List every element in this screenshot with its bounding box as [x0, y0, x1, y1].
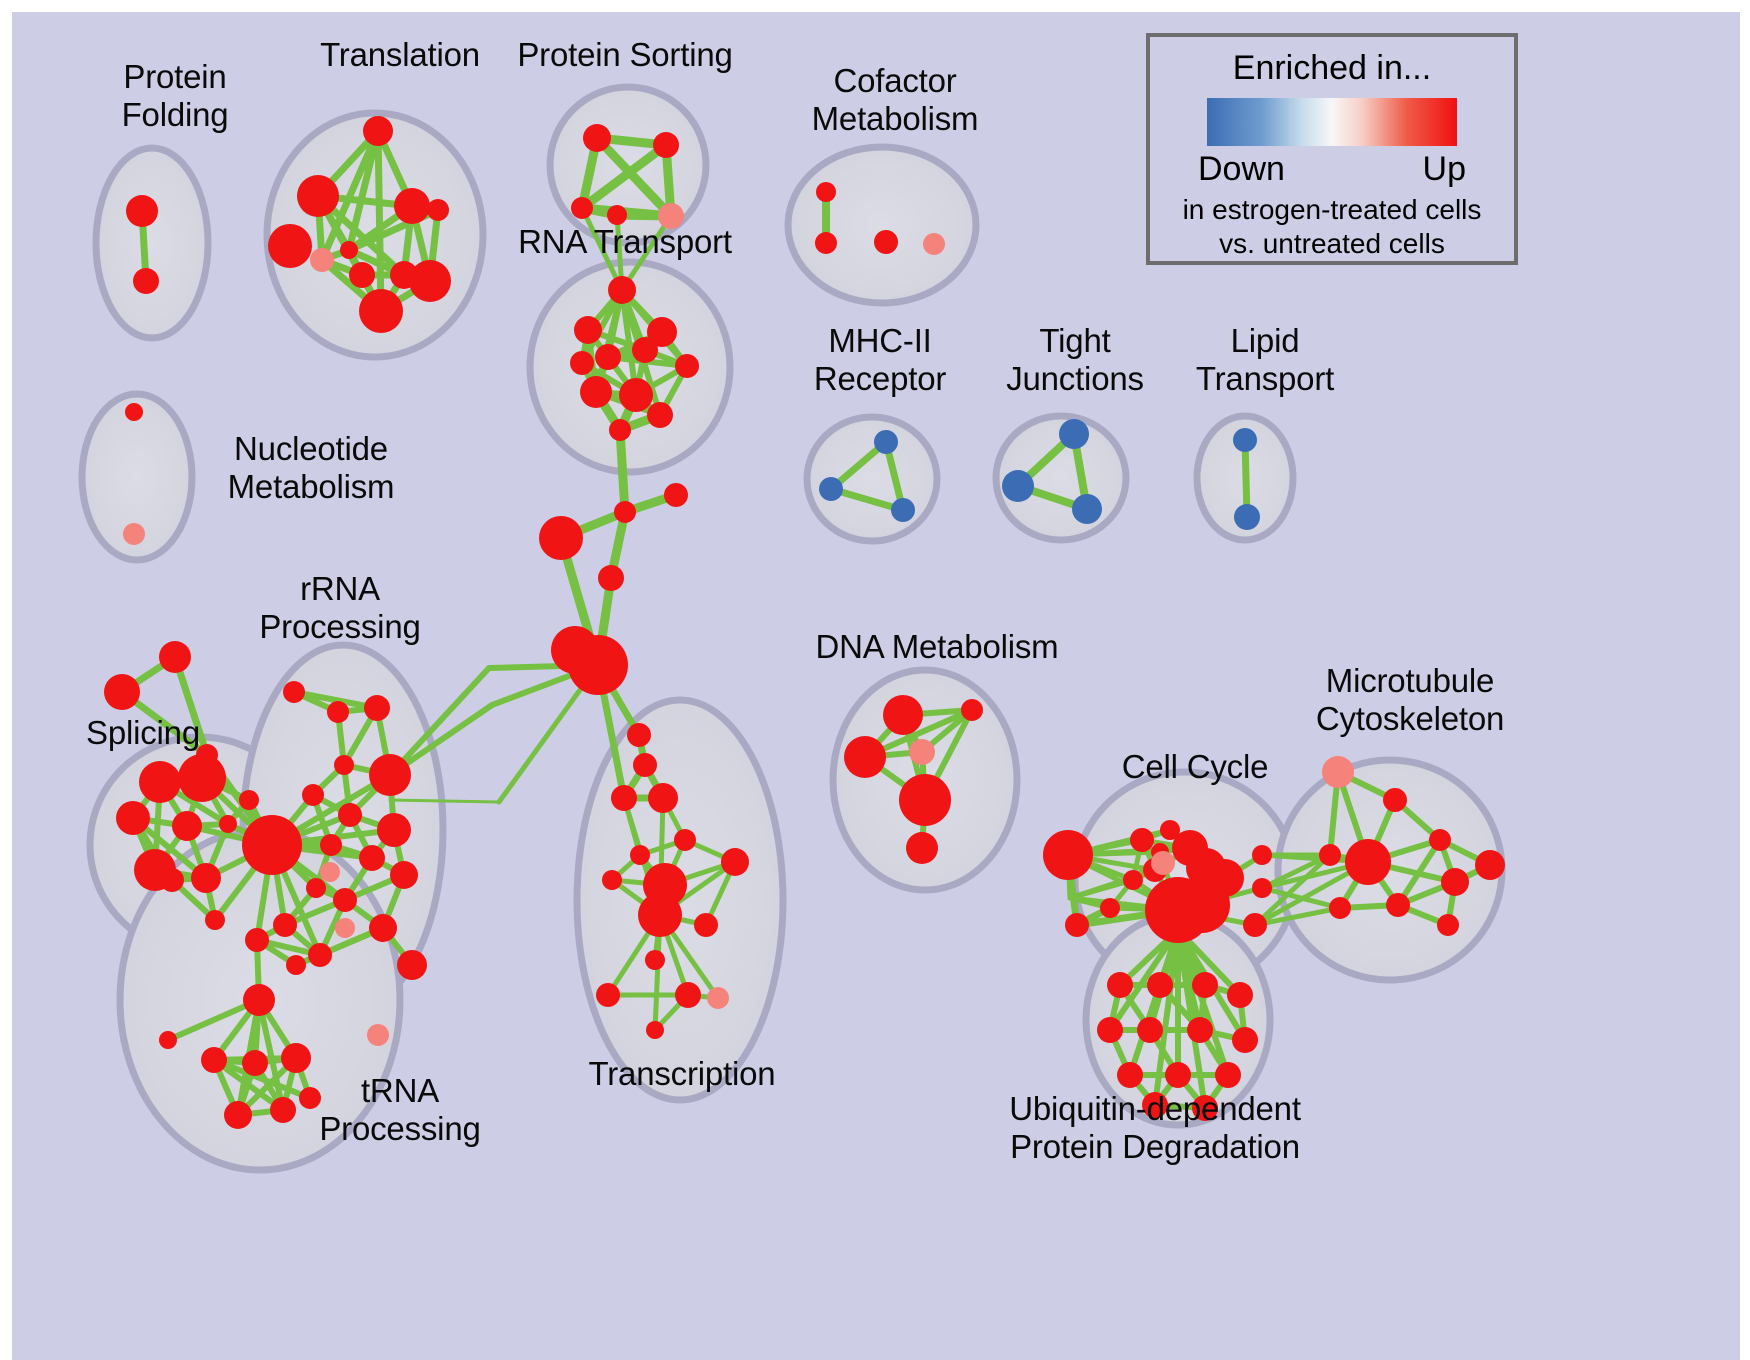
node: [394, 188, 430, 224]
legend-high-label: Up: [1423, 150, 1466, 189]
node: [334, 755, 354, 775]
node: [159, 1031, 177, 1049]
node: [583, 124, 611, 152]
node: [630, 845, 650, 865]
legend-caption-line1: in estrogen-treated cells: [1183, 193, 1482, 227]
node: [338, 803, 362, 827]
node: [674, 829, 696, 851]
node-faint: [1322, 756, 1354, 788]
node: [816, 182, 836, 202]
node: [1097, 1017, 1123, 1043]
node: [1345, 839, 1391, 885]
node: [359, 845, 385, 871]
node: [961, 699, 983, 721]
node: [178, 754, 226, 802]
node: [1187, 1017, 1213, 1043]
node: [638, 893, 682, 937]
node-down: [891, 498, 915, 522]
node: [363, 116, 393, 146]
node-faint: [310, 248, 334, 272]
node: [133, 268, 159, 294]
node: [675, 982, 701, 1008]
node: [125, 403, 143, 421]
node: [242, 1050, 268, 1076]
node-down: [1072, 494, 1102, 524]
node: [580, 376, 612, 408]
cluster-label-transcription: Transcription: [572, 1055, 792, 1093]
node: [369, 914, 397, 942]
node: [219, 815, 237, 833]
node: [1252, 878, 1272, 898]
node: [645, 950, 665, 970]
node: [646, 1021, 664, 1039]
node: [116, 801, 150, 835]
node: [397, 950, 427, 980]
node: [609, 419, 631, 441]
legend-title: Enriched in...: [1233, 49, 1431, 88]
node: [647, 317, 677, 347]
node-faint: [320, 862, 340, 882]
node: [1117, 1062, 1143, 1088]
node: [664, 483, 688, 507]
node: [126, 195, 158, 227]
node: [608, 276, 636, 304]
node: [1252, 845, 1272, 865]
node: [281, 1043, 311, 1073]
cluster-label-tight-junctions: Tight Junctions: [985, 322, 1165, 398]
node-faint: [367, 1024, 389, 1046]
node: [243, 984, 275, 1016]
legend-box: Enriched in... Down Up in estrogen-treat…: [1146, 33, 1518, 265]
cluster-label-mhc-ii-receptor: MHC-II Receptor: [790, 322, 970, 398]
cluster-hull-protein-folding: [96, 148, 208, 338]
node: [899, 774, 951, 826]
node: [306, 878, 326, 898]
node-faint: [123, 523, 145, 545]
node-faint: [909, 739, 935, 765]
node: [1383, 788, 1407, 812]
node: [349, 262, 375, 288]
cluster-label-ubiquitin-degradation: Ubiquitin-dependent Protein Degradation: [990, 1090, 1320, 1166]
node: [245, 928, 269, 952]
node: [596, 983, 620, 1007]
node: [1174, 877, 1230, 933]
cluster-label-nucleotide-metabolism: Nucleotide Metabolism: [196, 430, 426, 506]
node: [1065, 913, 1089, 937]
node: [359, 289, 403, 333]
node: [1165, 1062, 1191, 1088]
node: [619, 378, 653, 412]
node: [653, 132, 679, 158]
node-down: [1059, 419, 1089, 449]
node: [614, 501, 636, 523]
node: [1329, 897, 1351, 919]
node: [1437, 914, 1459, 936]
figure-canvas: Protein Folding Translation Protein Sort…: [0, 0, 1750, 1360]
node: [270, 1097, 296, 1123]
cluster-hull-cofactor: [788, 147, 976, 303]
node-down: [819, 477, 843, 501]
node: [1130, 828, 1154, 852]
node: [815, 232, 837, 254]
node: [539, 516, 583, 560]
node: [308, 943, 332, 967]
node-faint: [335, 918, 355, 938]
cluster-label-cofactor-metabolism: Cofactor Metabolism: [790, 62, 1000, 138]
node-faint: [1151, 851, 1175, 875]
node: [721, 848, 749, 876]
cluster-label-dna-metabolism: DNA Metabolism: [812, 628, 1062, 666]
cluster-label-cell-cycle: Cell Cycle: [1105, 748, 1285, 786]
legend-caption-line2: vs. untreated cells: [1219, 227, 1445, 261]
node: [283, 681, 305, 703]
node-down: [1234, 504, 1260, 530]
node: [647, 402, 673, 428]
cluster-label-trna-processing: tRNA Processing: [300, 1072, 500, 1148]
node: [224, 1101, 252, 1129]
cluster-label-rna-transport: RNA Transport: [500, 223, 750, 261]
node-faint: [707, 987, 729, 1009]
node: [1107, 972, 1133, 998]
cluster-label-splicing: Splicing: [58, 714, 228, 752]
node: [1319, 844, 1341, 866]
node: [239, 790, 259, 810]
node: [1043, 830, 1093, 880]
node: [377, 813, 411, 847]
node: [1147, 972, 1173, 998]
node: [607, 205, 627, 225]
node: [104, 674, 140, 710]
node: [427, 199, 449, 221]
node: [201, 1047, 227, 1073]
node: [369, 754, 411, 796]
cluster-label-lipid-transport: Lipid Transport: [1175, 322, 1355, 398]
node: [675, 354, 699, 378]
node: [320, 834, 342, 856]
node-down: [1233, 428, 1257, 452]
cluster-label-translation: Translation: [280, 36, 520, 74]
node: [390, 861, 418, 889]
node: [906, 832, 938, 864]
node: [1243, 913, 1267, 937]
node: [571, 197, 593, 219]
node: [602, 870, 622, 890]
node: [172, 811, 202, 841]
node: [273, 913, 297, 937]
node: [1215, 1062, 1241, 1088]
node: [551, 626, 599, 674]
node: [139, 761, 181, 803]
node: [205, 910, 225, 930]
node: [611, 785, 637, 811]
cluster-label-protein-folding: Protein Folding: [80, 58, 270, 134]
node: [595, 344, 621, 370]
node: [574, 316, 602, 344]
node: [1441, 868, 1469, 896]
cluster-label-rrna-processing: rRNA Processing: [250, 570, 430, 646]
node: [874, 230, 898, 254]
node: [1227, 982, 1253, 1008]
node: [694, 913, 718, 937]
node: [340, 241, 358, 259]
node: [1137, 1017, 1163, 1043]
node: [844, 736, 886, 778]
node: [598, 565, 624, 591]
node: [268, 224, 312, 268]
node: [297, 175, 339, 217]
node: [333, 888, 357, 912]
legend-low-label: Down: [1198, 150, 1285, 189]
node: [364, 695, 390, 721]
node: [191, 863, 221, 893]
node: [1386, 893, 1410, 917]
node: [302, 784, 324, 806]
node: [1123, 870, 1143, 890]
node: [1232, 1027, 1258, 1053]
node: [570, 351, 594, 375]
node: [160, 868, 184, 892]
cluster-label-microtubule-cytoskeleton: Microtubule Cytoskeleton: [1300, 662, 1520, 738]
node: [242, 815, 302, 875]
node-faint: [923, 233, 945, 255]
node: [1429, 829, 1451, 851]
node: [633, 753, 657, 777]
legend-colorbar: [1207, 98, 1457, 146]
node: [627, 723, 651, 747]
node: [648, 783, 678, 813]
node: [327, 701, 349, 723]
node: [1100, 898, 1120, 918]
cluster-label-protein-sorting: Protein Sorting: [490, 36, 760, 74]
node: [883, 695, 923, 735]
node-down: [874, 430, 898, 454]
node: [159, 641, 191, 673]
node: [286, 955, 306, 975]
node-down: [1002, 470, 1034, 502]
node: [1192, 972, 1218, 998]
node: [409, 260, 451, 302]
node: [1475, 850, 1505, 880]
